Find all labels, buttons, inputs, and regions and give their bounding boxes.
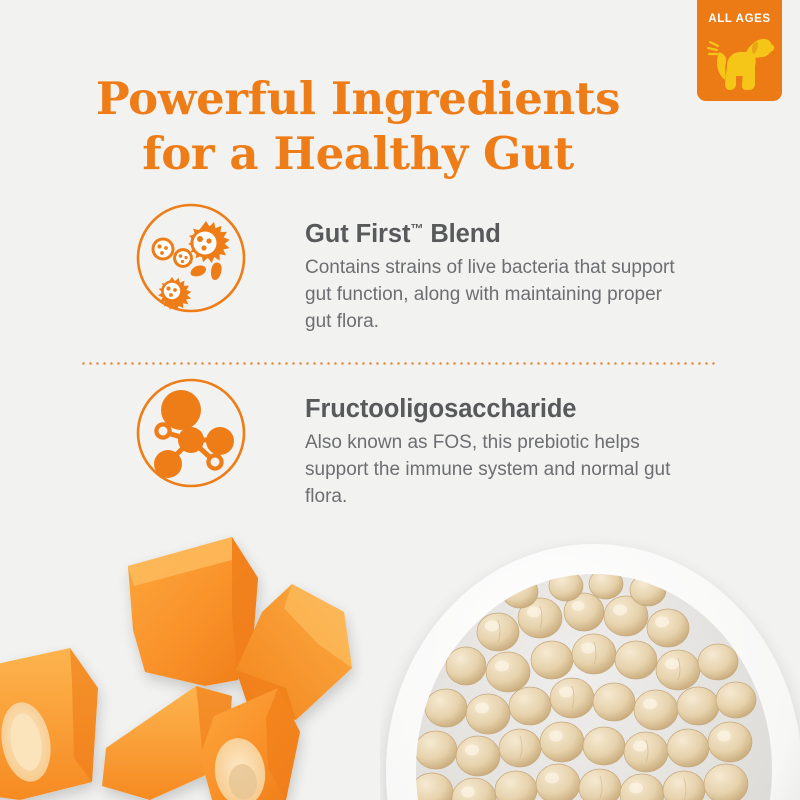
page-title-line-2: for a Healthy Gut: [0, 127, 716, 182]
all-ages-badge-label: ALL AGES: [697, 13, 782, 25]
chickpeas-bowl-photo: [380, 520, 800, 800]
trademark-symbol: ™: [410, 221, 423, 236]
feature-row-fructooligosaccharide: Fructooligosaccharide Also known as FOS,…: [136, 378, 736, 511]
bacteria-icon: [136, 203, 246, 313]
molecule-icon: [136, 378, 246, 488]
feature-heading-fructooligosaccharide: Fructooligosaccharide: [305, 395, 736, 423]
ingredient-photo-band: [0, 520, 800, 800]
dotted-divider: [80, 362, 718, 365]
dog-silhouette-icon: [705, 32, 775, 94]
page-title: Powerful Ingredients for a Healthy Gut: [0, 72, 716, 182]
feature-body-fructooligosaccharide: Also known as FOS, this prebiotic helps …: [305, 430, 680, 511]
feature-body-gut-first-blend: Contains strains of live bacteria that s…: [305, 255, 680, 336]
feature-heading-main: Gut First: [305, 220, 410, 248]
page-title-line-1: Powerful Ingredients: [0, 72, 716, 127]
feature-row-gut-first-blend: Gut First™ Blend Contains strains of liv…: [136, 203, 736, 336]
all-ages-badge: ALL AGES: [697, 0, 782, 101]
feature-heading-tail: Blend: [423, 220, 500, 248]
feature-heading-gut-first-blend: Gut First™ Blend: [305, 220, 736, 248]
feature-text-gut-first-blend: Gut First™ Blend Contains strains of liv…: [246, 203, 736, 336]
infographic-page: ALL AGES Powerful Ingredients for a Heal: [0, 0, 800, 800]
butternut-squash-chunks-photo: [0, 520, 420, 800]
feature-text-fructooligosaccharide: Fructooligosaccharide Also known as FOS,…: [246, 378, 736, 511]
